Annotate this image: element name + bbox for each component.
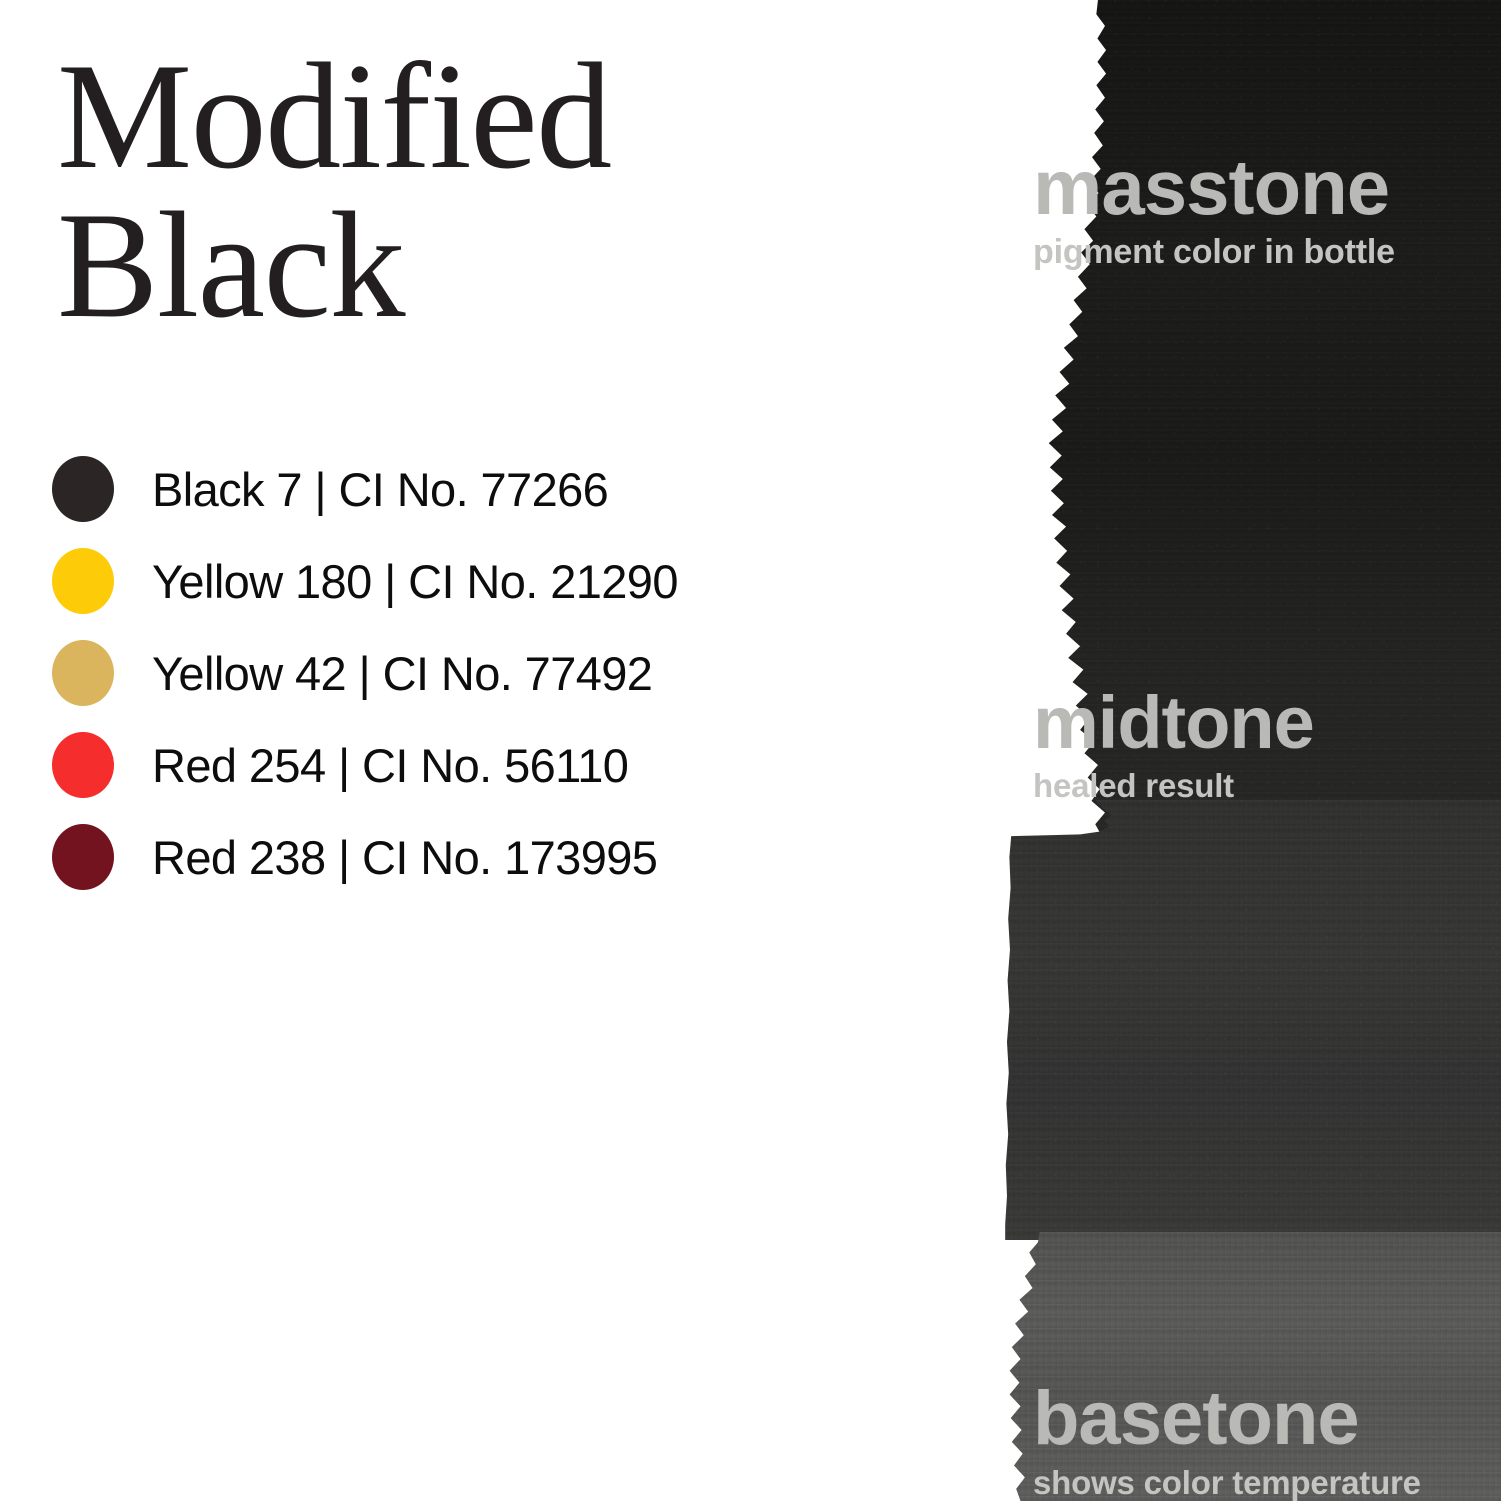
pigment-label: Yellow 42 | CI No. 77492 (152, 650, 652, 697)
pigment-label: Black 7 | CI No. 77266 (152, 466, 608, 513)
list-item: Yellow 180 | CI No. 21290 (52, 535, 852, 627)
midtone-label-group: midtone healed result (1033, 686, 1314, 802)
midtone-title: midtone (1033, 686, 1314, 760)
pigment-swatch-dot (52, 548, 114, 614)
masstone-label-group: masstone pigment color in bottle (1033, 148, 1395, 269)
pigment-swatch-dot (52, 456, 114, 522)
pigment-label: Yellow 180 | CI No. 21290 (152, 558, 678, 605)
midtone-description: healed result (1033, 769, 1314, 802)
pigment-list: Black 7 | CI No. 77266 Yellow 180 | CI N… (52, 443, 852, 903)
midtone-paint-band (900, 800, 1501, 1240)
list-item: Red 238 | CI No. 173995 (52, 811, 852, 903)
basetone-title: basetone (1033, 1381, 1421, 1457)
swatch-card: Modified Black Black 7 | CI No. 77266 Ye… (0, 0, 1501, 1501)
list-item: Red 254 | CI No. 56110 (52, 719, 852, 811)
pigment-swatch-dot (52, 732, 114, 798)
pigment-swatch-dot (52, 640, 114, 706)
basetone-description: shows color temperature (1033, 1466, 1421, 1499)
list-item: Black 7 | CI No. 77266 (52, 443, 852, 535)
pigment-label: Red 238 | CI No. 173995 (152, 834, 657, 881)
page-title: Modified Black (57, 42, 857, 340)
basetone-label-group: basetone shows color temperature (1033, 1381, 1421, 1499)
paint-texture-grain (900, 800, 1501, 1240)
pigment-swatch-dot (52, 824, 114, 890)
info-panel: Modified Black Black 7 | CI No. 77266 Ye… (0, 0, 900, 1501)
pigment-label: Red 254 | CI No. 56110 (152, 742, 628, 789)
masstone-title: masstone (1033, 148, 1395, 226)
list-item: Yellow 42 | CI No. 77492 (52, 627, 852, 719)
masstone-description: pigment color in bottle (1033, 235, 1395, 269)
